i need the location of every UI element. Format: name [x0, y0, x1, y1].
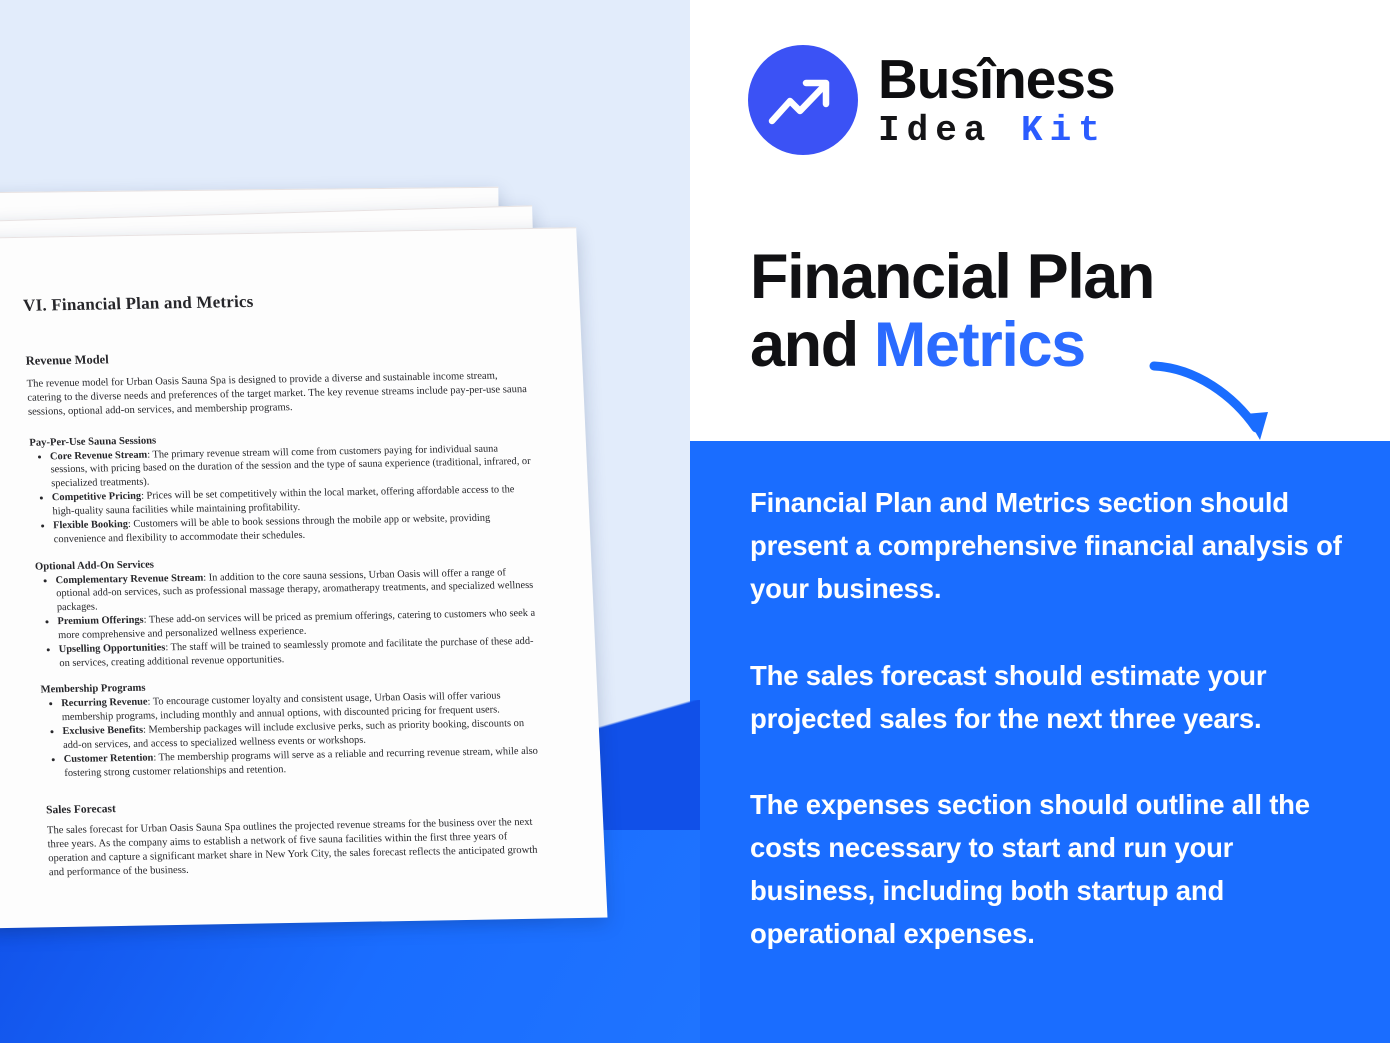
bullet-term: Flexible Booking — [53, 519, 128, 531]
paragraph-1: Financial Plan and Metrics section shoul… — [750, 482, 1350, 611]
logo-wordmark: Busîness Idea Kit — [878, 52, 1115, 149]
document-intro-paragraph: The revenue model for Urban Oasis Sauna … — [26, 369, 528, 420]
bullet-term: Exclusive Benefits — [62, 725, 143, 737]
headline-line1: Financial Plan — [750, 242, 1154, 312]
logo-subtitle-dark: Idea — [878, 110, 992, 151]
list-item: Complementary Revenue Stream: In additio… — [55, 565, 537, 614]
logo-title: Busîness — [878, 52, 1115, 107]
document-section-heading: Revenue Model — [25, 345, 526, 369]
list-item: Core Revenue Stream: The primary revenue… — [50, 442, 532, 491]
bullet-term: Complementary Revenue Stream — [55, 572, 203, 586]
document-title: VI. Financial Plan and Metrics — [23, 287, 524, 316]
trending-up-chart-icon — [748, 45, 858, 155]
headline-line2-blue: Metrics — [874, 310, 1085, 380]
paragraph-3: The expenses section should outline all … — [750, 784, 1350, 956]
bullet-term: Premium Offerings — [57, 615, 144, 627]
document-group-payperuse: Pay-Per-Use Sauna Sessions Core Revenue … — [29, 429, 534, 547]
document-group-addons: Optional Add-On Services Complementary R… — [35, 552, 540, 670]
headline-line2-dark: and — [750, 310, 874, 380]
document-sales-forecast: Sales Forecast The sales forecast for Ur… — [46, 796, 550, 881]
curved-arrow-down-right-icon — [1148, 352, 1288, 452]
sales-forecast-paragraph: The sales forecast for Urban Oasis Sauna… — [47, 816, 550, 881]
document-page-front: VI. Financial Plan and Metrics Revenue M… — [0, 227, 607, 928]
brand-logo: Busîness Idea Kit — [748, 45, 1115, 155]
document-group-membership: Membership Programs Recurring Revenue: T… — [40, 676, 544, 781]
bullet-term: Recurring Revenue — [61, 697, 148, 709]
poster-canvas: VI. Financial Plan and Metrics Revenue M… — [0, 0, 1390, 1043]
paragraph-2: The sales forecast should estimate your … — [750, 655, 1350, 741]
bullet-term: Core Revenue Stream — [50, 450, 148, 463]
document-page-stack: VI. Financial Plan and Metrics Revenue M… — [0, 0, 700, 1043]
logo-subtitle: Idea Kit — [878, 113, 1115, 149]
description-text: Financial Plan and Metrics section shoul… — [750, 482, 1350, 956]
bullet-term: Customer Retention — [64, 753, 154, 766]
logo-subtitle-kit: Kit — [1021, 110, 1107, 151]
bullet-term: Upselling Opportunities — [59, 642, 166, 655]
sales-forecast-heading: Sales Forecast — [46, 796, 547, 817]
group-bullet-list: Core Revenue Stream: The primary revenue… — [30, 442, 535, 547]
group-bullet-list: Recurring Revenue: To encourage customer… — [41, 689, 545, 781]
group-bullet-list: Complementary Revenue Stream: In additio… — [35, 565, 540, 670]
bullet-term: Competitive Pricing — [52, 491, 142, 504]
